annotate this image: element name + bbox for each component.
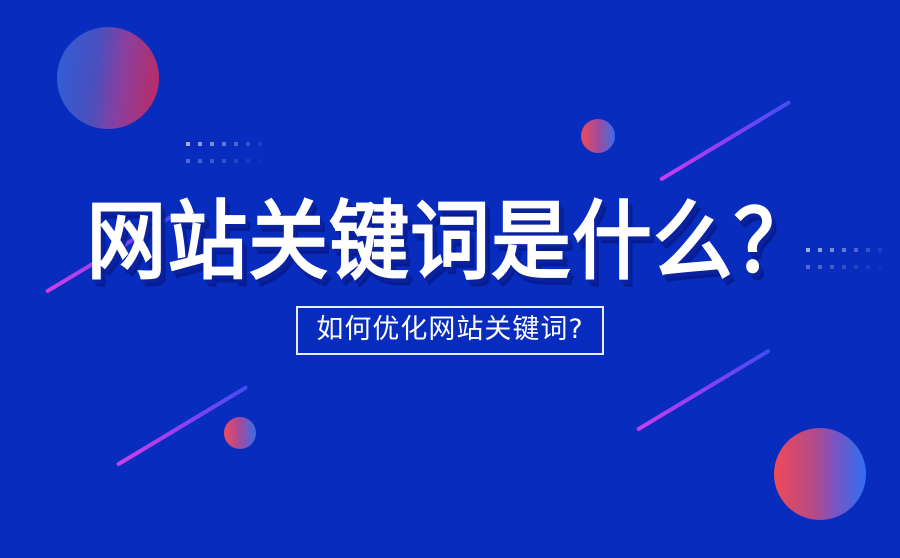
banner-headline: 网站关键词是什么？ [86,199,814,285]
dot [234,142,238,146]
banner-subtitle: 如何优化网站关键词? [316,314,583,345]
dot [198,142,202,146]
dot [246,142,250,146]
dot [186,142,190,146]
dot [210,142,214,146]
dot [258,142,262,146]
streak-right-lower [636,348,771,431]
promo-banner: 网站关键词是什么？ 如何优化网站关键词? [0,0,900,558]
dot [198,159,202,163]
subtitle-frame: 如何优化网站关键词? [296,306,603,355]
dot [210,159,214,163]
dot [258,159,262,163]
circle-small-top [581,119,615,153]
streak-left-lower [116,385,248,467]
dot [186,159,190,163]
dot-grid-left [186,142,270,176]
dot [246,159,250,163]
subtitle-container: 如何优化网站关键词? [0,306,900,355]
circle-top-left [57,27,159,129]
dot [222,159,226,163]
circle-bottom-right [774,428,866,520]
circle-small-bottom [224,417,256,449]
streak-right-upper [659,100,791,182]
dot [222,142,226,146]
dot [234,159,238,163]
headline-container: 网站关键词是什么？ [0,199,900,285]
